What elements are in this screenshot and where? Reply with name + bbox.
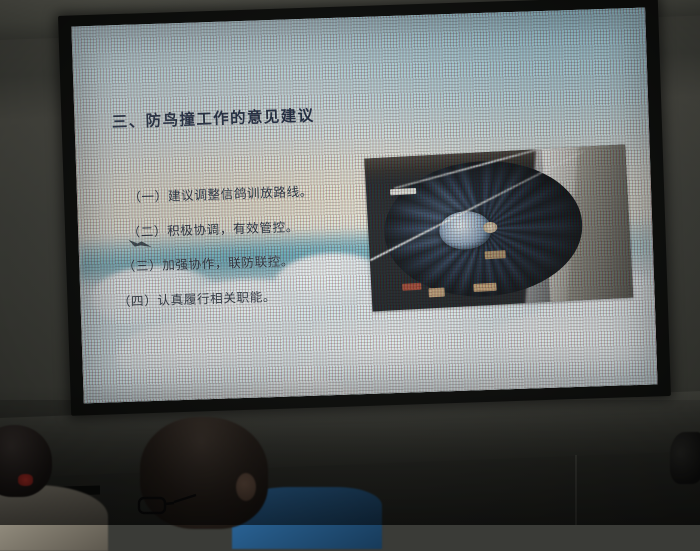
bullet-item-4: （四）认真履行相关职能。	[117, 282, 387, 310]
engine-debris	[429, 288, 445, 298]
engine-debris	[402, 283, 421, 292]
audience-person-right	[128, 415, 348, 535]
bullet-item-2: （二）积极协调，有效管控。	[127, 213, 385, 241]
person-right-ear	[236, 473, 256, 501]
audience-foreground	[0, 395, 700, 525]
person-left-collar-accent	[18, 474, 33, 486]
eyeglasses-icon	[136, 491, 208, 517]
audience-person-left	[0, 435, 98, 531]
presentation-slide: 三、防鸟撞工作的意见建议 （一）建议调整信鸽训放路线。 （二）积极协调，有效管控…	[71, 8, 657, 404]
slide-bullet-list: （一）建议调整信鸽训放路线。 （二）积极协调，有效管控。 （三）加强协作，联防联…	[114, 178, 388, 325]
meeting-room-background: 三、防鸟撞工作的意见建议 （一）建议调整信鸽训放路线。 （二）积极协调，有效管控…	[0, 0, 700, 525]
person-left-hair	[0, 425, 52, 497]
engine-photo-inner	[364, 145, 633, 312]
engine-damage-photo	[364, 145, 633, 312]
screen-surface[interactable]: 三、防鸟撞工作的意见建议 （一）建议调整信鸽训放路线。 （二）积极协调，有效管控…	[71, 8, 657, 404]
bullet-item-3: （三）加强协作，联防联控。	[122, 247, 386, 275]
led-screen[interactable]: 三、防鸟撞工作的意见建议 （一）建议调整信鸽训放路线。 （二）积极协调，有效管控…	[58, 0, 671, 416]
